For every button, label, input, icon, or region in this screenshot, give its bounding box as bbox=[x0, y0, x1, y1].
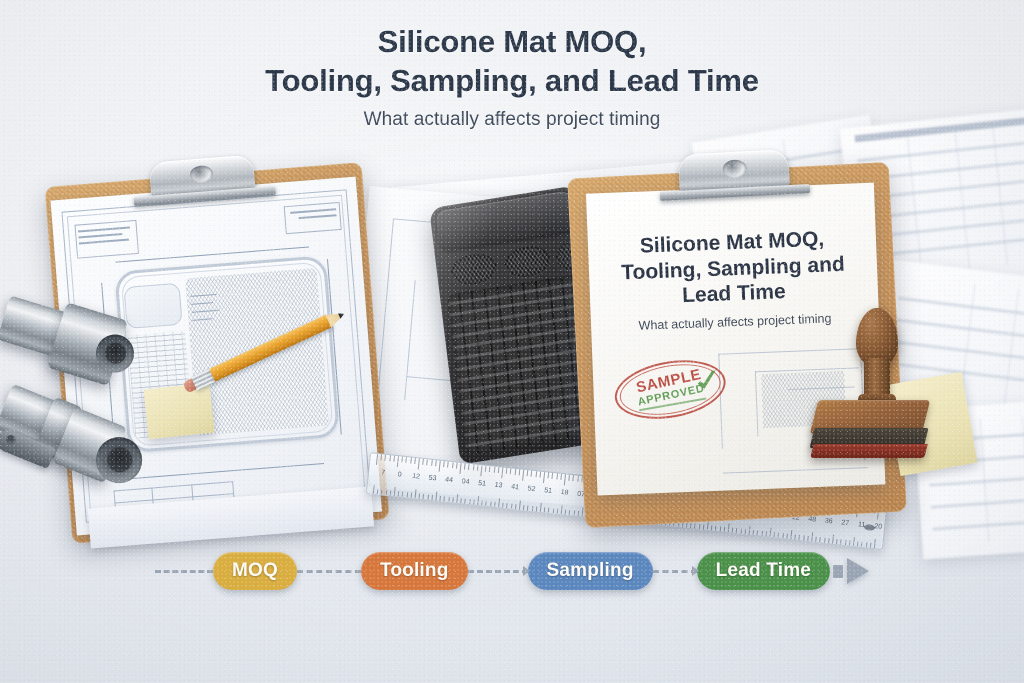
flow-step-sampling[interactable]: Sampling bbox=[528, 552, 653, 590]
flow-step-lead-time[interactable]: Lead Time bbox=[697, 552, 830, 590]
sticky-note-left bbox=[144, 383, 215, 440]
poster-header: Silicone Mat MOQ, Tooling, Sampling, and… bbox=[0, 22, 1024, 131]
page-subtitle: What actually affects project timing bbox=[0, 109, 1024, 131]
flow-connector-1 bbox=[297, 570, 361, 573]
ruler-number: 0 bbox=[397, 471, 402, 478]
flow-connector-0 bbox=[155, 570, 213, 573]
ruler-number: 51 bbox=[544, 487, 553, 495]
ruler-number: 18 bbox=[560, 489, 569, 497]
flow-step-tooling[interactable]: Tooling bbox=[361, 552, 468, 590]
check-icon bbox=[693, 367, 721, 395]
page-title: Silicone Mat MOQ, Tooling, Sampling, and… bbox=[0, 22, 1024, 100]
flow-connector-3 bbox=[653, 570, 697, 573]
ruler-number: 44 bbox=[445, 476, 454, 484]
flow-step-moq[interactable]: MOQ bbox=[213, 552, 297, 590]
ruler-number: 20 bbox=[874, 523, 883, 531]
ruler-number: 52 bbox=[527, 485, 536, 493]
title-line-1: Silicone Mat MOQ, bbox=[0, 22, 1024, 61]
poster-canvas: Silicone Mat MOQ, Tooling, Sampling and … bbox=[0, 0, 1024, 683]
doc-title-line-3: Sampling and Lead Time bbox=[682, 253, 845, 308]
mat-grip-pad-2 bbox=[503, 243, 552, 280]
ruler-number: 53 bbox=[428, 475, 437, 483]
ruler-number: 48 bbox=[808, 516, 817, 524]
end-arrow-icon bbox=[847, 558, 869, 584]
stamp-rubber-base bbox=[810, 444, 927, 458]
wooden-rubber-stamp bbox=[806, 308, 936, 464]
ruler-number: 36 bbox=[824, 518, 833, 526]
ruler-number: 7 bbox=[381, 469, 386, 476]
flow-connector-2 bbox=[468, 570, 528, 573]
doc-title-line-1: Silicone Mat bbox=[639, 230, 762, 258]
mat-grip-pad-1 bbox=[449, 251, 498, 288]
arrow-head-icon bbox=[523, 566, 530, 576]
arrow-head-icon bbox=[692, 566, 699, 576]
title-line-2: Tooling, Sampling, and Lead Time bbox=[0, 61, 1024, 100]
ruler-number: 51 bbox=[478, 480, 487, 488]
process-flow: MOQ Tooling Sampling Lead Time bbox=[0, 547, 1024, 595]
end-arrow-tail bbox=[833, 565, 843, 578]
document-page-title: Silicone Mat MOQ, Tooling, Sampling and … bbox=[608, 226, 858, 312]
ruler-number: 27 bbox=[841, 519, 850, 527]
ruler-number: 13 bbox=[494, 482, 503, 490]
ruler-number: 04 bbox=[461, 478, 470, 486]
ruler-number: 12 bbox=[412, 473, 421, 481]
ruler-number: 41 bbox=[511, 484, 520, 492]
